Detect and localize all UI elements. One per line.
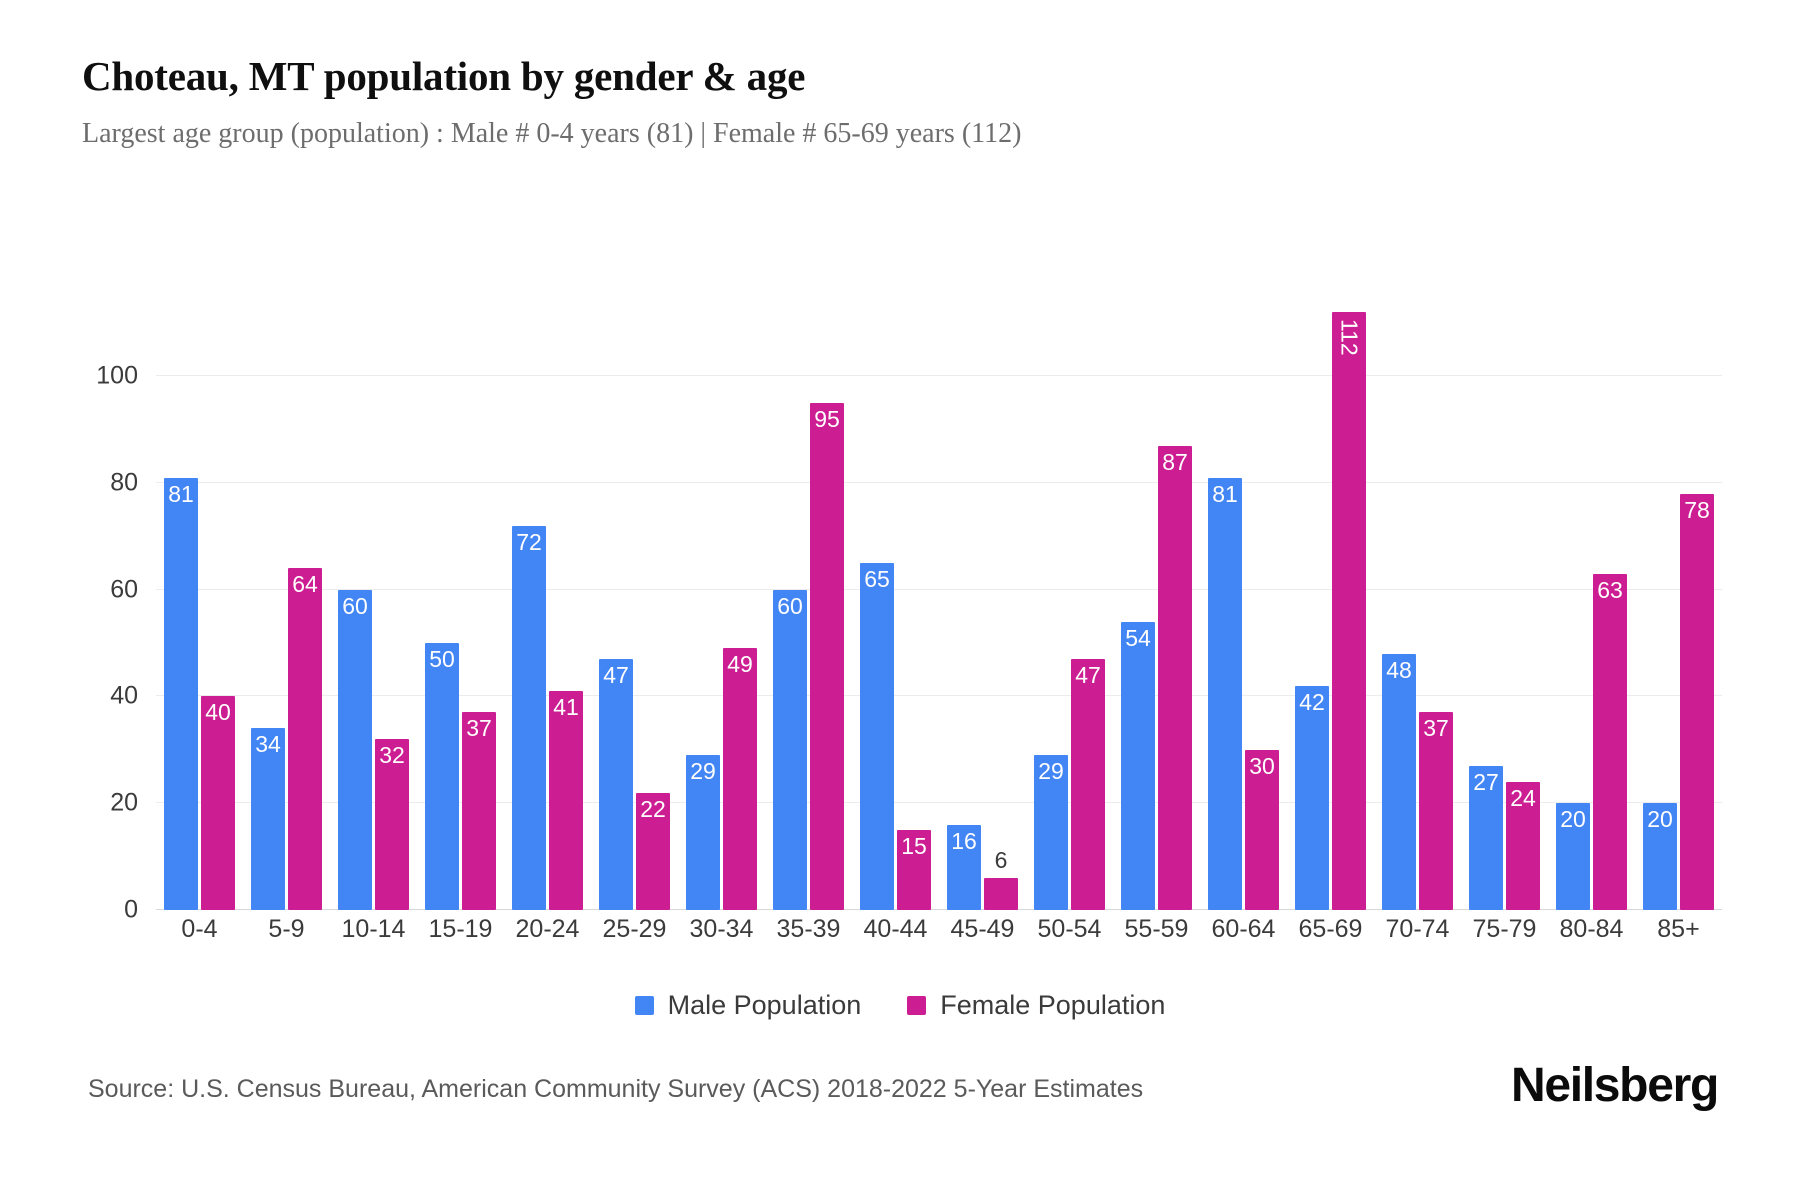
bar-value-label: 29 — [686, 760, 720, 783]
bar-value-label: 112 — [1338, 319, 1361, 356]
x-tick-label: 80-84 — [1548, 915, 1635, 944]
bar-male[interactable]: 65 — [860, 563, 894, 910]
bar-group: 42112 — [1287, 280, 1374, 910]
bar-group: 2947 — [1026, 280, 1113, 910]
bar-value-label: 27 — [1469, 771, 1503, 794]
y-tick-label: 100 — [96, 362, 138, 391]
bar-value-label: 78 — [1680, 499, 1714, 522]
bar-value-label: 63 — [1593, 579, 1627, 602]
legend-label: Male Population — [668, 990, 862, 1021]
bar-female[interactable]: 47 — [1071, 659, 1105, 910]
bar-value-label: 24 — [1506, 787, 1540, 810]
brand-logo: Neilsberg — [1511, 1058, 1718, 1113]
bar-male[interactable]: 47 — [599, 659, 633, 910]
bar-value-label: 40 — [201, 701, 235, 724]
bar-group: 6032 — [330, 280, 417, 910]
bar-female[interactable]: 37 — [1419, 712, 1453, 910]
x-tick-label: 5-9 — [243, 915, 330, 944]
x-tick-label: 30-34 — [678, 915, 765, 944]
x-tick-label: 85+ — [1635, 915, 1722, 944]
bar-value-label: 20 — [1556, 808, 1590, 831]
source-note: Source: U.S. Census Bureau, American Com… — [88, 1075, 1143, 1104]
chart-legend: Male PopulationFemale Population — [0, 990, 1800, 1021]
bars-layer: 8140346460325037724147222949609565151662… — [156, 280, 1722, 910]
bar-male[interactable]: 27 — [1469, 766, 1503, 910]
bar-value-label: 20 — [1643, 808, 1677, 831]
bar-group: 2724 — [1461, 280, 1548, 910]
bar-male[interactable]: 81 — [164, 478, 198, 910]
y-tick-label: 0 — [124, 896, 138, 925]
bar-female[interactable]: 49 — [723, 648, 757, 910]
y-tick-label: 60 — [110, 575, 138, 604]
bar-value-label: 49 — [723, 653, 757, 676]
bar-female[interactable]: 40 — [201, 696, 235, 910]
bar-male[interactable]: 48 — [1382, 654, 1416, 910]
legend-swatch-icon — [907, 996, 926, 1015]
x-tick-label: 60-64 — [1200, 915, 1287, 944]
x-tick-label: 75-79 — [1461, 915, 1548, 944]
bar-value-label: 32 — [375, 744, 409, 767]
x-tick-label: 35-39 — [765, 915, 852, 944]
bar-value-label: 30 — [1245, 755, 1279, 778]
bar-male[interactable]: 42 — [1295, 686, 1329, 910]
bar-group: 6515 — [852, 280, 939, 910]
bar-female[interactable]: 15 — [897, 830, 931, 910]
legend-item[interactable]: Female Population — [907, 990, 1165, 1021]
x-axis: 0-45-910-1415-1920-2425-2930-3435-3940-4… — [156, 915, 1722, 944]
bar-value-label: 37 — [1419, 717, 1453, 740]
bar-group: 7241 — [504, 280, 591, 910]
bar-group: 3464 — [243, 280, 330, 910]
bar-value-label: 6 — [984, 849, 1018, 872]
x-tick-label: 25-29 — [591, 915, 678, 944]
bar-group: 2949 — [678, 280, 765, 910]
y-axis: 020406080100 — [82, 280, 156, 910]
bar-male[interactable]: 72 — [512, 526, 546, 910]
bar-male[interactable]: 81 — [1208, 478, 1242, 910]
bar-value-label: 37 — [462, 717, 496, 740]
chart-page: Choteau, MT population by gender & age L… — [0, 0, 1800, 1200]
chart-header: Choteau, MT population by gender & age L… — [82, 52, 1722, 150]
bar-male[interactable]: 20 — [1643, 803, 1677, 910]
bar-female[interactable]: 32 — [375, 739, 409, 910]
bar-group: 4722 — [591, 280, 678, 910]
bar-female[interactable]: 112 — [1332, 312, 1366, 910]
bar-value-label: 47 — [1071, 664, 1105, 687]
bar-female[interactable]: 22 — [636, 793, 670, 910]
bar-value-label: 54 — [1121, 627, 1155, 650]
y-tick-label: 80 — [110, 468, 138, 497]
bar-value-label: 50 — [425, 648, 459, 671]
bar-male[interactable]: 60 — [338, 590, 372, 910]
bar-value-label: 60 — [338, 595, 372, 618]
bar-value-label: 87 — [1158, 451, 1192, 474]
bar-female[interactable]: 64 — [288, 568, 322, 910]
bar-male[interactable]: 34 — [251, 728, 285, 910]
y-tick-label: 20 — [110, 789, 138, 818]
y-tick-label: 40 — [110, 682, 138, 711]
bar-male[interactable]: 29 — [686, 755, 720, 910]
legend-swatch-icon — [635, 996, 654, 1015]
plot-area: 020406080100 814034646032503772414722294… — [82, 280, 1722, 910]
legend-label: Female Population — [940, 990, 1165, 1021]
bar-male[interactable]: 16 — [947, 825, 981, 910]
bar-female[interactable]: 87 — [1158, 446, 1192, 910]
x-tick-label: 70-74 — [1374, 915, 1461, 944]
chart-subtitle: Largest age group (population) : Male # … — [82, 118, 1722, 150]
bar-female[interactable]: 95 — [810, 403, 844, 910]
bar-value-label: 81 — [1208, 483, 1242, 506]
bar-female[interactable]: 30 — [1245, 750, 1279, 910]
legend-item[interactable]: Male Population — [635, 990, 862, 1021]
bar-male[interactable]: 50 — [425, 643, 459, 910]
bar-male[interactable]: 29 — [1034, 755, 1068, 910]
x-tick-label: 10-14 — [330, 915, 417, 944]
bar-value-label: 15 — [897, 835, 931, 858]
bar-group: 166 — [939, 280, 1026, 910]
bar-value-label: 60 — [773, 595, 807, 618]
bar-value-label: 34 — [251, 733, 285, 756]
bar-male[interactable]: 20 — [1556, 803, 1590, 910]
bar-female[interactable]: 41 — [549, 691, 583, 910]
x-tick-label: 40-44 — [852, 915, 939, 944]
bar-female[interactable]: 6 — [984, 878, 1018, 910]
bar-value-label: 41 — [549, 696, 583, 719]
x-tick-label: 20-24 — [504, 915, 591, 944]
bar-value-label: 47 — [599, 664, 633, 687]
bar-value-label: 48 — [1382, 659, 1416, 682]
bar-group: 2078 — [1635, 280, 1722, 910]
bar-group: 5487 — [1113, 280, 1200, 910]
x-tick-label: 55-59 — [1113, 915, 1200, 944]
x-tick-label: 15-19 — [417, 915, 504, 944]
bar-group: 2063 — [1548, 280, 1635, 910]
bar-value-label: 72 — [512, 531, 546, 554]
bar-group: 4837 — [1374, 280, 1461, 910]
page-title: Choteau, MT population by gender & age — [82, 52, 1722, 100]
bar-male[interactable]: 60 — [773, 590, 807, 910]
bar-value-label: 22 — [636, 798, 670, 821]
x-tick-label: 50-54 — [1026, 915, 1113, 944]
bar-female[interactable]: 78 — [1680, 494, 1714, 910]
bar-value-label: 65 — [860, 568, 894, 591]
bar-group: 8130 — [1200, 280, 1287, 910]
bar-value-label: 95 — [810, 408, 844, 431]
bar-group: 5037 — [417, 280, 504, 910]
bar-female[interactable]: 24 — [1506, 782, 1540, 910]
bar-female[interactable]: 63 — [1593, 574, 1627, 910]
x-tick-label: 45-49 — [939, 915, 1026, 944]
bar-value-label: 64 — [288, 573, 322, 596]
bar-group: 8140 — [156, 280, 243, 910]
bar-female[interactable]: 37 — [462, 712, 496, 910]
bar-value-label: 29 — [1034, 760, 1068, 783]
x-tick-label: 0-4 — [156, 915, 243, 944]
bar-value-label: 42 — [1295, 691, 1329, 714]
x-tick-label: 65-69 — [1287, 915, 1374, 944]
bar-value-label: 16 — [947, 830, 981, 853]
bar-group: 6095 — [765, 280, 852, 910]
bar-male[interactable]: 54 — [1121, 622, 1155, 910]
bar-value-label: 81 — [164, 483, 198, 506]
